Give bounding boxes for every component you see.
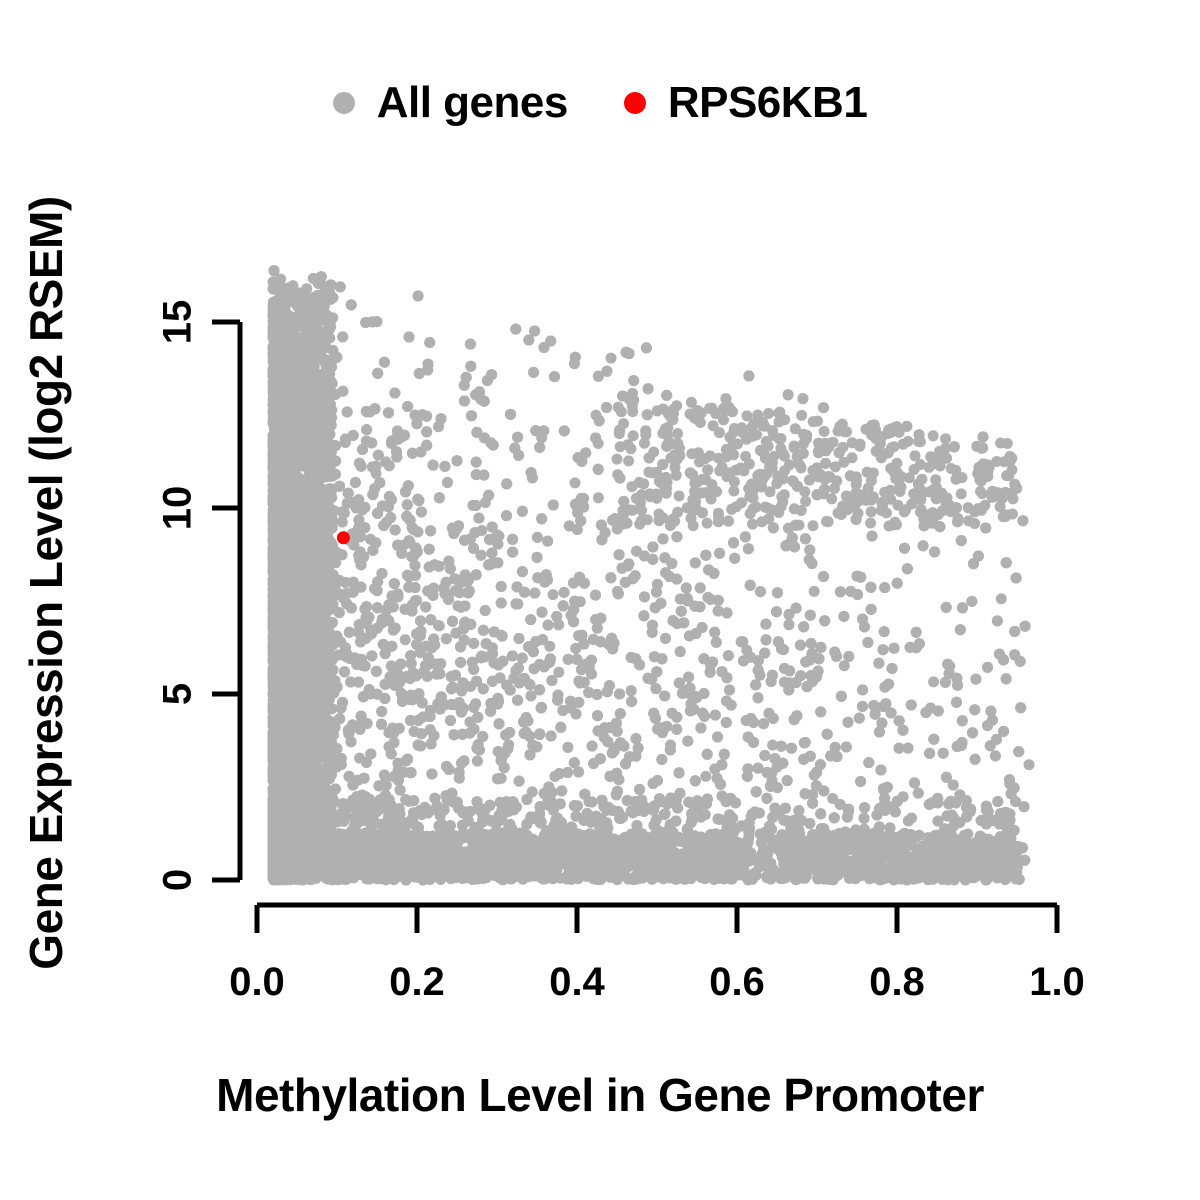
x-tick-label-2: 0.4 [549,960,605,1005]
y-tick-label-2: 10 [156,486,201,531]
y-tick-label-3: 15 [156,300,201,345]
highlight-point-rps6kb1 [337,531,350,544]
y-tick-label-1: 5 [156,683,201,705]
scatter-plot-figure: All genes RPS6KB1 0.00.20.40.60.81.0 051… [0,0,1200,1200]
x-tick-label-3: 0.6 [709,960,765,1005]
x-tick-label-4: 0.8 [869,960,925,1005]
x-axis-title: Methylation Level in Gene Promoter [0,1068,1200,1122]
plot-area [0,0,1200,1200]
x-tick-label-1: 0.2 [389,960,445,1005]
x-tick-label-0: 0.0 [229,960,285,1005]
data-points-layer [268,265,1035,885]
y-tick-label-0: 0 [156,869,201,891]
x-tick-label-5: 1.0 [1029,960,1085,1005]
y-axis-title: Gene Expression Level (log2 RSEM) [19,133,73,1033]
